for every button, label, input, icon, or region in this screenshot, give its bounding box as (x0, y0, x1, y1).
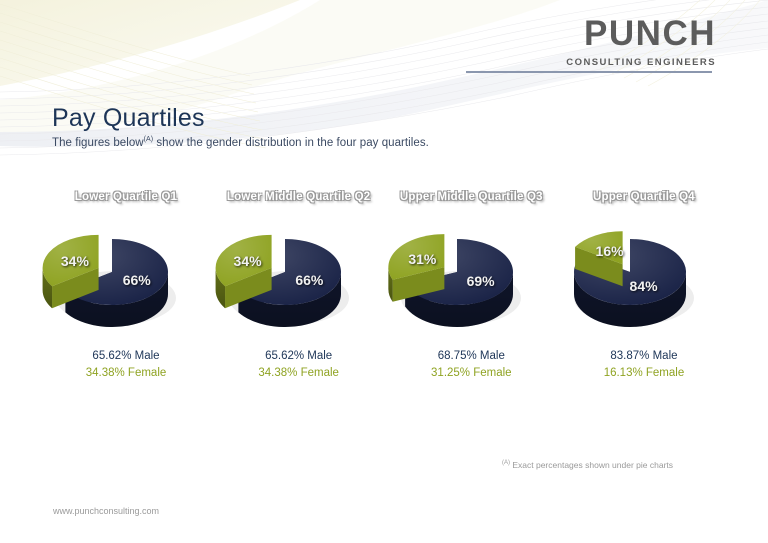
pie-chart-graphic: 69%31% (387, 220, 555, 338)
legend-male-value: 65.62% Male (86, 348, 167, 365)
page-subtitle-footnote-marker: (A) (144, 136, 153, 143)
page-title: Pay Quartiles (52, 104, 205, 133)
legend-male-value: 68.75% Male (431, 348, 512, 365)
pie-chart-graphic: 66%34% (215, 220, 383, 338)
pie-chart-title: Upper Quartile Q4 (593, 192, 695, 206)
footnote: (A) Exact percentages shown under pie ch… (502, 460, 673, 470)
pie-chart-title: Lower Quartile Q1 (75, 192, 177, 206)
pie-chart-legend: 65.62% Male34.38% Female (86, 348, 167, 381)
slide-canvas: PUNCH CONSULTING ENGINEERS Pay Quartiles… (0, 0, 768, 543)
page-subtitle-tail: show the gender distribution in the four… (153, 137, 429, 149)
logo-wordmark: PUNCH (566, 16, 716, 51)
legend-female-value: 34.38% Female (86, 365, 167, 382)
pie-chart-4: Upper Quartile Q4 84%16%83.87% Male16.13… (558, 192, 730, 407)
pie-chart-graphic: 66%34% (42, 220, 210, 338)
brand-logo: PUNCH CONSULTING ENGINEERS (566, 16, 716, 68)
pie-chart-legend: 65.62% Male34.38% Female (258, 348, 339, 381)
pie-chart-title: Lower Middle Quartile Q2 (227, 192, 370, 206)
pie-chart-3: Upper Middle Quartile Q3 69%31%68.75% Ma… (385, 192, 557, 407)
pie-charts-row: Lower Quartile Q1 66%34%65.62% Male34.38… (40, 192, 730, 407)
pie-chart-2: Lower Middle Quartile Q2 66%34%65.62% Ma… (213, 192, 385, 407)
pie-chart-title: Upper Middle Quartile Q3 (400, 192, 543, 206)
legend-male-value: 65.62% Male (258, 348, 339, 365)
footnote-text: Exact percentages shown under pie charts (510, 460, 673, 470)
footnote-marker: (A) (502, 460, 510, 466)
page-subtitle: The figures below(A) show the gender dis… (52, 136, 429, 149)
legend-female-value: 16.13% Female (604, 365, 685, 382)
legend-male-value: 83.87% Male (604, 348, 685, 365)
header-divider-rule (466, 71, 712, 73)
legend-female-value: 34.38% Female (258, 365, 339, 382)
legend-female-value: 31.25% Female (431, 365, 512, 382)
pie-chart-graphic: 84%16% (560, 220, 728, 338)
pie-chart-legend: 68.75% Male31.25% Female (431, 348, 512, 381)
page-subtitle-lead: The figures below (52, 137, 144, 149)
logo-tagline: CONSULTING ENGINEERS (566, 58, 716, 68)
footer-website-url: www.punchconsulting.com (53, 506, 159, 516)
pie-chart-legend: 83.87% Male16.13% Female (604, 348, 685, 381)
pie-chart-1: Lower Quartile Q1 66%34%65.62% Male34.38… (40, 192, 212, 407)
